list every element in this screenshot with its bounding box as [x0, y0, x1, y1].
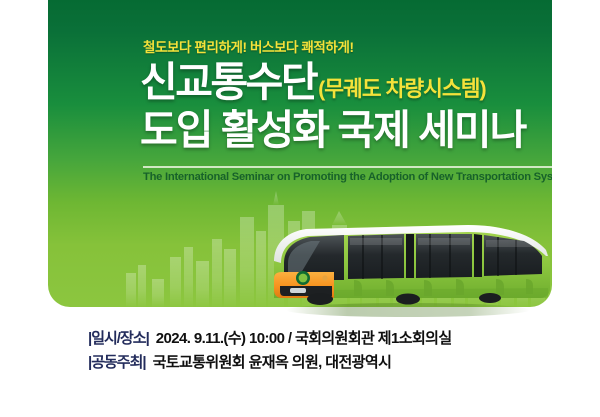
poster-title-line1: 신교통수단(무궤도 차량시스템) [140, 62, 486, 103]
tram-illustration [258, 216, 558, 326]
info-label-cohosts: |공동주최| [88, 354, 146, 371]
poster-title-main: 신교통수단 [140, 59, 316, 105]
poster-title-line2: 도입 활성화 국제 세미나 [140, 110, 525, 151]
title-divider [143, 166, 552, 168]
trackless-tram-icon [258, 216, 558, 326]
poster-subtitle-english: The International Seminar on Promoting t… [143, 171, 552, 183]
info-row-datetime-venue: |일시/장소|2024. 9.11.(수) 10:00 / 국회의원회관 제1소… [88, 330, 568, 348]
poster-kicker: 철도보다 편리하게! 버스보다 쾌적하게! [143, 36, 354, 56]
info-label-datetime-venue: |일시/장소| [88, 330, 149, 347]
info-row-cohosts: |공동주최|국토교통위원회 윤재옥 의원, 대전광역시 [88, 354, 568, 372]
info-value-cohosts: 국토교통위원회 윤재옥 의원, 대전광역시 [153, 354, 392, 371]
poster-title-parenthetical: (무궤도 차량시스템) [318, 77, 486, 101]
info-value-datetime-venue: 2024. 9.11.(수) 10:00 / 국회의원회관 제1소회의실 [156, 330, 452, 347]
seminar-poster: 철도보다 편리하게! 버스보다 쾌적하게! 신교통수단(무궤도 차량시스템) 도… [0, 0, 600, 417]
event-info-block: |일시/장소|2024. 9.11.(수) 10:00 / 국회의원회관 제1소… [88, 330, 568, 379]
